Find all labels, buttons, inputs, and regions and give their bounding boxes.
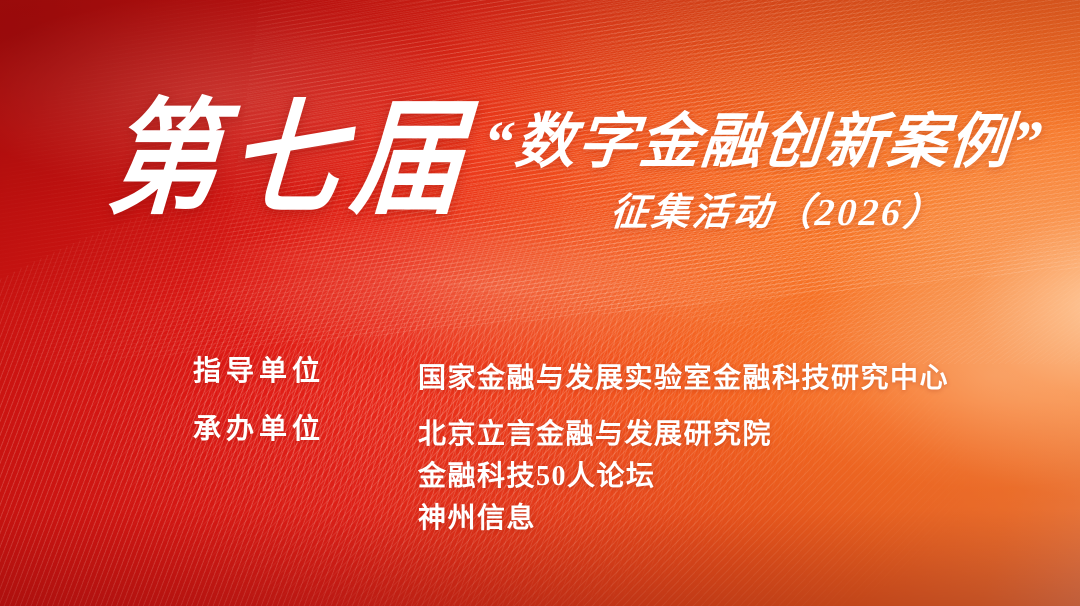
credit-label-host: 承办单位 <box>193 416 325 444</box>
credit-values-host: 北京立言金融与发展研究院 金融科技50人论坛 神州信息 <box>418 414 772 540</box>
credit-value: 神州信息 <box>418 498 772 540</box>
credit-value: 北京立言金融与发展研究院 <box>418 414 772 456</box>
poster-canvas: 第七届 “数字金融创新案例” 征集活动（2026） 指导单位 国家金融与发展实验… <box>0 0 1080 606</box>
credit-label-guide: 指导单位 <box>193 358 325 386</box>
quoted-title: “数字金融创新案例” <box>481 112 1046 172</box>
credit-values-guide: 国家金融与发展实验室金融科技研究中心 <box>418 358 949 400</box>
credit-value: 国家金融与发展实验室金融科技研究中心 <box>418 358 949 400</box>
subtitle: 征集活动（2026） <box>609 194 946 232</box>
poster-content: 第七届 “数字金融创新案例” 征集活动（2026） 指导单位 国家金融与发展实验… <box>0 0 1080 606</box>
edition-title: 第七届 <box>103 98 478 223</box>
credit-value: 金融科技50人论坛 <box>418 456 772 498</box>
headline-block: 第七届 “数字金融创新案例” 征集活动（2026） <box>0 104 1080 254</box>
